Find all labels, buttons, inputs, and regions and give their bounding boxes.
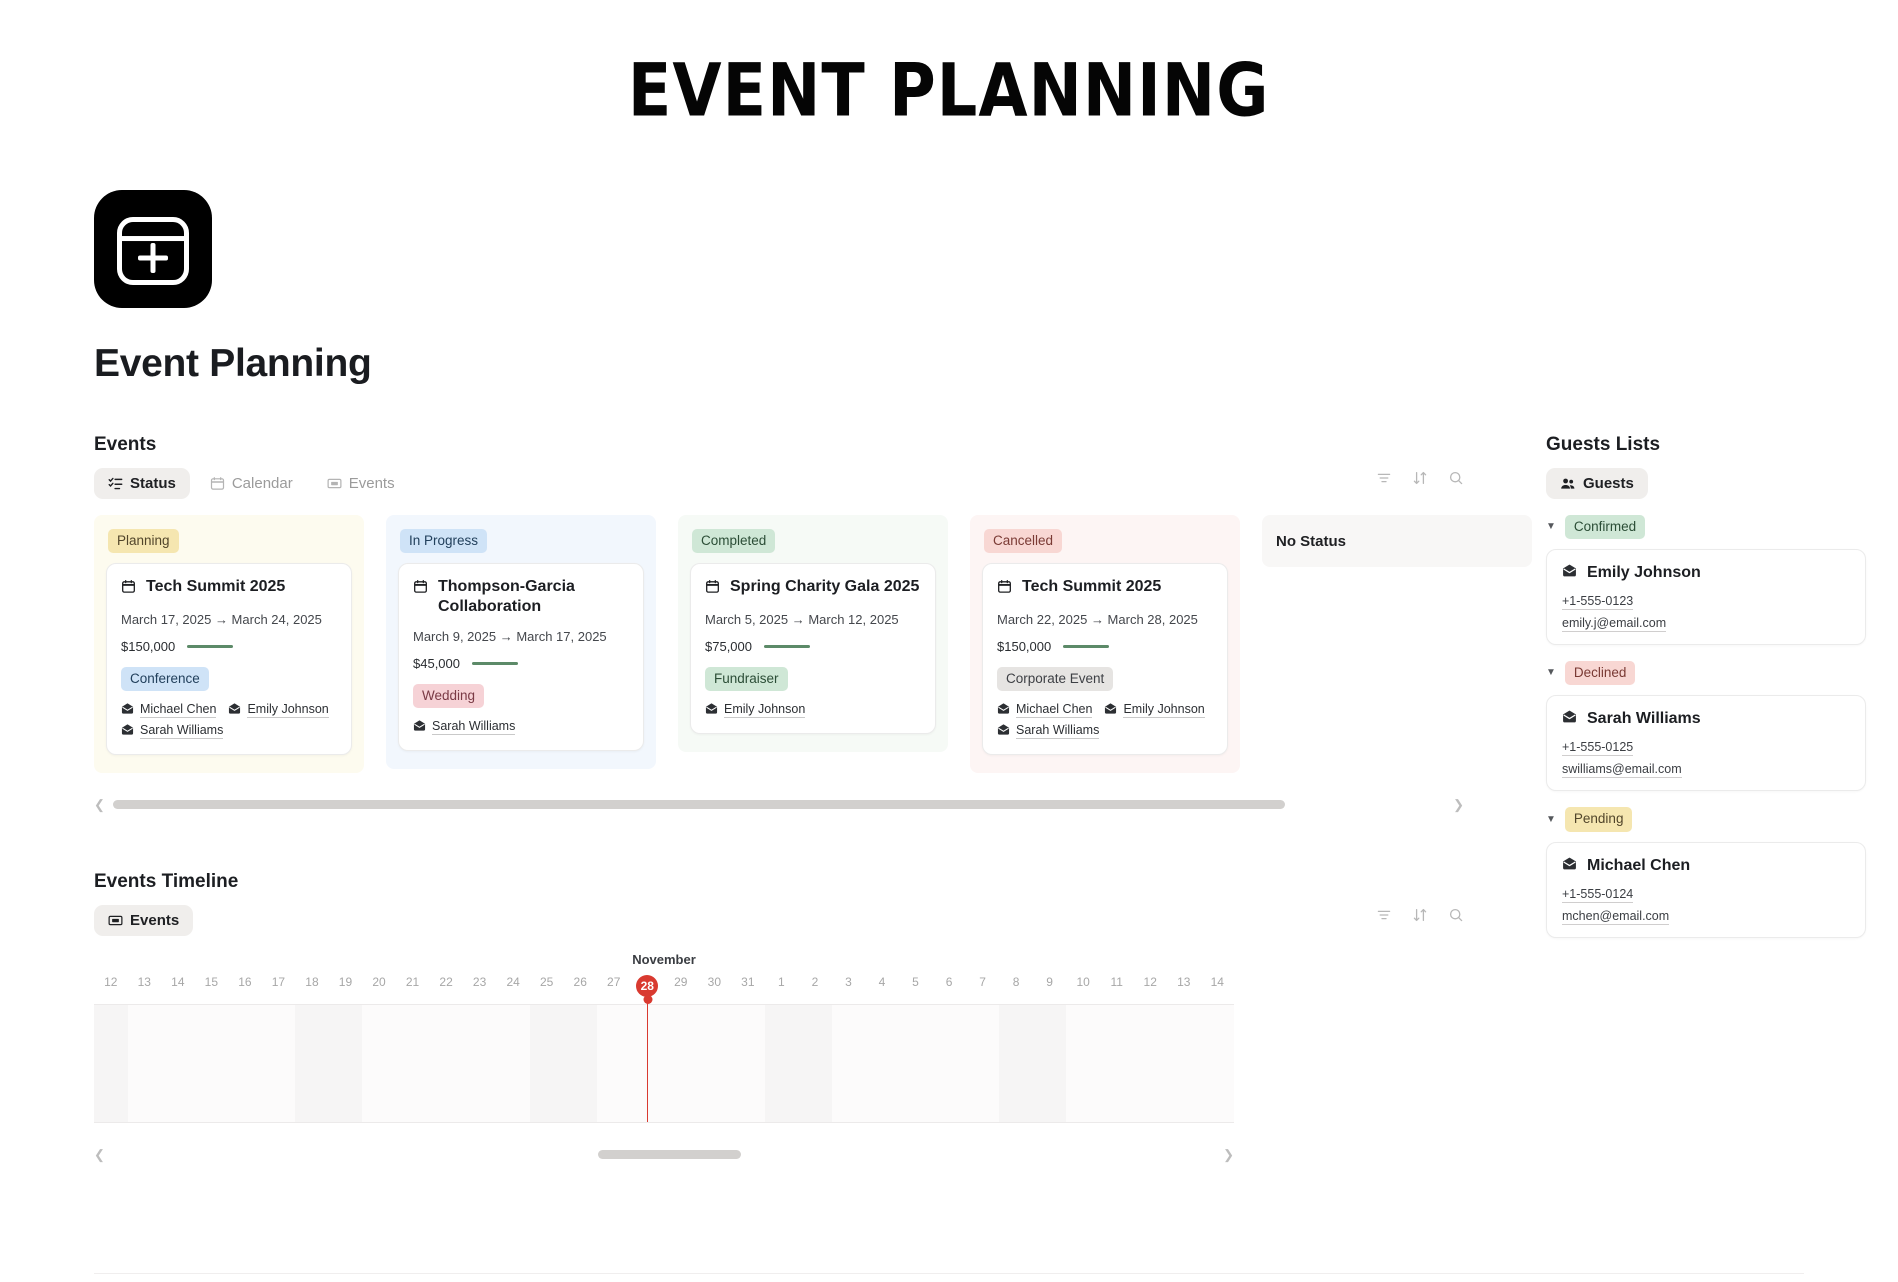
timeline-day[interactable]: 25: [530, 975, 564, 997]
event-tag-row: Wedding: [413, 684, 629, 708]
timeline-day[interactable]: 5: [899, 975, 933, 997]
event-date-range: March 17, 2025 → March 24, 2025: [121, 612, 337, 627]
sort-icon[interactable]: [1412, 907, 1428, 928]
timeline-day-cell[interactable]: [496, 1005, 530, 1122]
timeline-toolbar-actions: [1376, 907, 1464, 928]
envelope-icon: [997, 702, 1010, 718]
timeline-day-cell[interactable]: [463, 1005, 497, 1122]
timeline-day-cell[interactable]: [1201, 1005, 1235, 1122]
timeline-day[interactable]: 23: [463, 975, 497, 997]
timeline-tabbar: Events: [94, 905, 1464, 936]
envelope-icon: [121, 702, 134, 718]
event-tag: Wedding: [413, 684, 484, 708]
tab-guests-label: Guests: [1583, 475, 1634, 492]
timeline-day-cell[interactable]: [798, 1005, 832, 1122]
kanban-columns: Planning Tech Summit 2025: [94, 515, 1464, 773]
tab-events-label: Events: [349, 475, 395, 492]
guest-phone-row: +1-555-0124: [1562, 887, 1850, 901]
timeline-day[interactable]: 7: [966, 975, 1000, 997]
timeline-day[interactable]: 12: [1133, 975, 1167, 997]
timeline-day[interactable]: 1: [765, 975, 799, 997]
calendar-icon: [121, 579, 136, 600]
event-date-range: March 9, 2025 → March 17, 2025: [413, 629, 629, 644]
timeline-day-cell[interactable]: [966, 1005, 1000, 1122]
guest-phone[interactable]: +1-555-0123: [1562, 594, 1633, 610]
envelope-icon: [1562, 856, 1577, 876]
guest-name-row: Emily Johnson: [1562, 563, 1850, 583]
timeline-day[interactable]: 2: [798, 975, 832, 997]
status-badge: In Progress: [400, 529, 487, 553]
kanban-board: Planning Tech Summit 2025: [94, 515, 1464, 813]
event-tag: Conference: [121, 667, 209, 691]
timeline-day[interactable]: 13: [128, 975, 162, 997]
timeline-day[interactable]: 21: [396, 975, 430, 997]
event-title: Tech Summit 2025: [146, 577, 285, 597]
guests-tabbar: Guests: [1546, 468, 1866, 499]
person-name: Emily Johnson: [1123, 702, 1204, 718]
event-tag: Corporate Event: [997, 667, 1113, 691]
status-badge: No Status: [1276, 529, 1355, 555]
timeline-horizontal-scrollbar[interactable]: ❮ ❯: [94, 1145, 1234, 1163]
guest-name-row: Michael Chen: [1562, 856, 1850, 876]
guest-group-header[interactable]: ▼ Pending: [1546, 807, 1866, 831]
status-list-icon: [108, 476, 123, 491]
timeline-day-cell[interactable]: [899, 1005, 933, 1122]
timeline-day[interactable]: 30: [698, 975, 732, 997]
search-icon[interactable]: [1448, 907, 1464, 928]
timeline-day-cell[interactable]: [295, 1005, 329, 1122]
event-people: Sarah Williams: [413, 719, 629, 735]
calendar-icon: [705, 579, 720, 600]
event-budget: $150,000: [997, 639, 1051, 654]
left-column: Events Status: [94, 434, 1464, 1163]
card-title-row: Thompson-Garcia Collaboration: [413, 577, 629, 617]
person[interactable]: Emily Johnson: [228, 702, 328, 718]
column-header: Planning: [94, 515, 364, 563]
tab-status[interactable]: Status: [94, 468, 190, 499]
timeline-day-cell[interactable]: [228, 1005, 262, 1122]
timeline-day[interactable]: 8: [999, 975, 1033, 997]
guests-panel: Guests Lists Guests ▼ Confirmed: [1546, 434, 1866, 948]
guest-card[interactable]: Sarah Williams +1-555-0125 swilliams@ema…: [1546, 695, 1866, 791]
timeline-day-cell[interactable]: [94, 1005, 128, 1122]
chevron-down-icon[interactable]: ▼: [1546, 815, 1556, 825]
timeline-day[interactable]: 12: [94, 975, 128, 997]
timeline-day-cell[interactable]: [999, 1005, 1033, 1122]
guest-group-pending: ▼ Pending Michael Chen +1-555-0124 mchen…: [1546, 807, 1866, 937]
event-title: Thompson-Garcia Collaboration: [438, 577, 629, 617]
column-header: No Status: [1262, 515, 1532, 565]
person[interactable]: Sarah Williams: [997, 723, 1099, 739]
guest-name: Emily Johnson: [1587, 564, 1701, 582]
timeline-day-cell[interactable]: [765, 1005, 799, 1122]
timeline-day-cell[interactable]: [1100, 1005, 1134, 1122]
guest-group-header[interactable]: ▼ Confirmed: [1546, 515, 1866, 539]
timeline-day[interactable]: 11: [1100, 975, 1134, 997]
scroll-left-icon[interactable]: ❮: [94, 798, 105, 811]
kanban-column-in-progress: In Progress Thompson-Garcia C: [386, 515, 656, 769]
main-content: Events Status: [0, 386, 1898, 1163]
person-name: Emily Johnson: [247, 702, 328, 718]
scroll-right-icon[interactable]: ❯: [1453, 798, 1464, 811]
timeline-day-cell[interactable]: [262, 1005, 296, 1122]
person-name: Michael Chen: [140, 702, 216, 718]
people-icon: [1560, 476, 1576, 492]
tab-calendar[interactable]: Calendar: [196, 468, 307, 499]
timeline-day-cell[interactable]: [563, 1005, 597, 1122]
timeline-section: Events Timeline Events: [94, 871, 1464, 1163]
event-budget: $45,000: [413, 656, 460, 671]
timeline-day-cell[interactable]: [128, 1005, 162, 1122]
guest-phone[interactable]: +1-555-0125: [1562, 740, 1633, 756]
scroll-left-icon[interactable]: ❮: [94, 1148, 105, 1161]
guest-status-badge: Confirmed: [1565, 515, 1645, 539]
envelope-icon: [413, 719, 426, 735]
envelope-icon: [997, 723, 1010, 739]
kanban-column-planning: Planning Tech Summit 2025: [94, 515, 364, 773]
column-header: Cancelled: [970, 515, 1240, 563]
guest-email[interactable]: emily.j@email.com: [1562, 616, 1666, 632]
event-people: Michael Chen Emily Joh: [121, 702, 337, 739]
sort-icon[interactable]: [1412, 470, 1428, 491]
timeline-day[interactable]: 24: [496, 975, 530, 997]
timeline-day[interactable]: 31: [731, 975, 765, 997]
event-budget-row: $150,000: [997, 639, 1213, 654]
person[interactable]: Sarah Williams: [121, 723, 223, 739]
timeline-day-cell[interactable]: [832, 1005, 866, 1122]
calendar-icon: [210, 476, 225, 491]
calendar-icon: [997, 579, 1012, 600]
guest-group-declined: ▼ Declined Sarah Williams +1-555-0125 sw…: [1546, 661, 1866, 791]
event-tag-row: Fundraiser: [705, 667, 921, 691]
person[interactable]: Michael Chen: [121, 702, 216, 718]
events-section: Events Status: [94, 434, 1464, 813]
guest-card[interactable]: Emily Johnson +1-555-0123 emily.j@email.…: [1546, 549, 1866, 645]
budget-bar: [1063, 645, 1109, 648]
tab-guests[interactable]: Guests: [1546, 468, 1648, 499]
person-name: Michael Chen: [1016, 702, 1092, 718]
tab-calendar-label: Calendar: [232, 475, 293, 492]
timeline-day[interactable]: 17: [262, 975, 296, 997]
timeline-day-cell[interactable]: [932, 1005, 966, 1122]
scroll-thumb[interactable]: [113, 800, 1285, 809]
scroll-thumb[interactable]: [598, 1150, 741, 1159]
person[interactable]: Emily Johnson: [1104, 702, 1204, 718]
timeline-day[interactable]: 3: [832, 975, 866, 997]
timeline-day-cell[interactable]: [1133, 1005, 1167, 1122]
timeline-day[interactable]: 19: [329, 975, 363, 997]
person-name: Emily Johnson: [724, 702, 805, 718]
ticket-icon: [327, 476, 342, 491]
guests-section-title: Guests Lists: [1546, 434, 1866, 456]
page-header: Event Planning: [0, 190, 1898, 386]
event-budget: $150,000: [121, 639, 175, 654]
ticket-icon: [108, 913, 123, 928]
timeline-day-cell[interactable]: [1167, 1005, 1201, 1122]
guest-email[interactable]: swilliams@email.com: [1562, 762, 1682, 778]
event-title: Spring Charity Gala 2025: [730, 577, 919, 597]
column-header: Completed: [678, 515, 948, 563]
timeline-day-cell[interactable]: [664, 1005, 698, 1122]
budget-bar: [472, 662, 518, 665]
event-budget: $75,000: [705, 639, 752, 654]
banner-title: EVENT PLANNING: [628, 48, 1270, 133]
status-badge: Completed: [692, 529, 775, 553]
timeline-chart: November 1213141516171819202122232425262…: [94, 952, 1234, 1163]
person-name: Sarah Williams: [432, 719, 515, 735]
scroll-right-icon[interactable]: ❯: [1223, 1148, 1234, 1161]
guest-phone-row: +1-555-0123: [1562, 594, 1850, 608]
guest-status-badge: Pending: [1565, 807, 1633, 831]
timeline-day[interactable]: 20: [362, 975, 396, 997]
guest-email-row: swilliams@email.com: [1562, 762, 1850, 776]
person-name: Sarah Williams: [1016, 723, 1099, 739]
scroll-track[interactable]: [113, 800, 1445, 809]
timeline-day[interactable]: 26: [563, 975, 597, 997]
timeline-day-cell[interactable]: [362, 1005, 396, 1122]
kanban-horizontal-scrollbar[interactable]: ❮ ❯: [94, 795, 1464, 813]
timeline-day[interactable]: 10: [1066, 975, 1100, 997]
timeline-ruler: 1213141516171819202122232425262728293031…: [94, 975, 1234, 1005]
person[interactable]: Emily Johnson: [705, 702, 805, 718]
timeline-day[interactable]: 29: [664, 975, 698, 997]
guest-group-header[interactable]: ▼ Declined: [1546, 661, 1866, 685]
timeline-day-cell[interactable]: [731, 1005, 765, 1122]
event-date-range: March 22, 2025 → March 28, 2025: [997, 612, 1213, 627]
filter-icon[interactable]: [1376, 470, 1392, 491]
timeline-day[interactable]: 9: [1033, 975, 1067, 997]
timeline-day-cell[interactable]: [195, 1005, 229, 1122]
event-budget-row: $150,000: [121, 639, 337, 654]
events-tabbar: Status Calendar: [94, 468, 1464, 499]
timeline-day[interactable]: 27: [597, 975, 631, 997]
scroll-track[interactable]: [113, 1150, 1215, 1159]
timeline-day[interactable]: 18: [295, 975, 329, 997]
event-card[interactable]: Tech Summit 2025 March 22, 2025 → March …: [982, 563, 1228, 755]
guest-email-row: emily.j@email.com: [1562, 616, 1850, 630]
event-people: Michael Chen Emily Joh: [997, 702, 1213, 739]
event-tag-row: Corporate Event: [997, 667, 1213, 691]
guest-name-row: Sarah Williams: [1562, 709, 1850, 729]
page-bottom-divider: [94, 1273, 1804, 1274]
events-section-title: Events: [94, 434, 1464, 456]
kanban-column-completed: Completed Spring Charity Gala: [678, 515, 948, 752]
person[interactable]: Sarah Williams: [413, 719, 515, 735]
guest-email-row: mchen@email.com: [1562, 909, 1850, 923]
event-card[interactable]: Spring Charity Gala 2025 March 5, 2025 →…: [690, 563, 936, 734]
guest-phone[interactable]: +1-555-0124: [1562, 887, 1633, 903]
status-badge: Planning: [108, 529, 179, 553]
chevron-down-icon[interactable]: ▼: [1546, 668, 1556, 678]
event-tag: Fundraiser: [705, 667, 788, 691]
timeline-day-cell[interactable]: [865, 1005, 899, 1122]
guest-group-confirmed: ▼ Confirmed Emily Johnson +1-555-0123 em…: [1546, 515, 1866, 645]
guest-name: Michael Chen: [1587, 857, 1690, 875]
event-budget-row: $75,000: [705, 639, 921, 654]
person[interactable]: Michael Chen: [997, 702, 1092, 718]
timeline-day[interactable]: 16: [228, 975, 262, 997]
calendar-plus-icon: [94, 190, 212, 308]
status-badge: Cancelled: [984, 529, 1062, 553]
guest-name: Sarah Williams: [1587, 710, 1701, 728]
page-banner: EVENT PLANNING: [0, 0, 1898, 182]
envelope-icon: [228, 702, 241, 718]
person-name: Sarah Williams: [140, 723, 223, 739]
timeline-day-cell[interactable]: [329, 1005, 363, 1122]
chevron-down-icon[interactable]: ▼: [1546, 522, 1556, 532]
event-date-range: March 5, 2025 → March 12, 2025: [705, 612, 921, 627]
column-header: In Progress: [386, 515, 656, 563]
today-marker: [647, 1000, 648, 1122]
today-pill: 28: [636, 975, 658, 997]
event-card[interactable]: Thompson-Garcia Collaboration March 9, 2…: [398, 563, 644, 751]
envelope-icon: [1562, 709, 1577, 729]
timeline-section-title: Events Timeline: [94, 871, 1464, 893]
event-title: Tech Summit 2025: [1022, 577, 1161, 597]
timeline-day[interactable]: 15: [195, 975, 229, 997]
timeline-body: [94, 1005, 1234, 1123]
tab-status-label: Status: [130, 475, 176, 492]
event-people: Emily Johnson: [705, 702, 921, 718]
guest-email[interactable]: mchen@email.com: [1562, 909, 1669, 925]
timeline-day-cell[interactable]: [530, 1005, 564, 1122]
timeline-day-cell[interactable]: [1066, 1005, 1100, 1122]
kanban-column-cancelled: Cancelled Tech Summit 2025: [970, 515, 1240, 773]
filter-icon[interactable]: [1376, 907, 1392, 928]
kanban-column-no-status: No Status: [1262, 515, 1532, 567]
timeline-day[interactable]: 22: [429, 975, 463, 997]
tab-timeline-events-label: Events: [130, 912, 179, 929]
event-card[interactable]: Tech Summit 2025 March 17, 2025 → March …: [106, 563, 352, 755]
card-title-row: Tech Summit 2025: [997, 577, 1213, 600]
timeline-day-cell[interactable]: [396, 1005, 430, 1122]
envelope-icon: [121, 723, 134, 739]
search-icon[interactable]: [1448, 470, 1464, 491]
card-title-row: Tech Summit 2025: [121, 577, 337, 600]
timeline-day[interactable]: 13: [1167, 975, 1201, 997]
timeline-day-cell[interactable]: [698, 1005, 732, 1122]
envelope-icon: [1104, 702, 1117, 718]
timeline-day[interactable]: 14: [1201, 975, 1235, 997]
event-budget-row: $45,000: [413, 656, 629, 671]
timeline-day-cell[interactable]: [597, 1005, 631, 1122]
event-tag-row: Conference: [121, 667, 337, 691]
timeline-day-cell[interactable]: [161, 1005, 195, 1122]
timeline-day-cell[interactable]: [429, 1005, 463, 1122]
tab-events[interactable]: Events: [313, 468, 409, 499]
envelope-icon: [1562, 563, 1577, 583]
calendar-icon: [413, 579, 428, 600]
envelope-icon: [705, 702, 718, 718]
timeline-day[interactable]: 14: [161, 975, 195, 997]
timeline-day-cell[interactable]: [1033, 1005, 1067, 1122]
timeline-day-today[interactable]: 28: [631, 975, 665, 997]
guest-card[interactable]: Michael Chen +1-555-0124 mchen@email.com: [1546, 842, 1866, 938]
budget-bar: [187, 645, 233, 648]
tab-timeline-events[interactable]: Events: [94, 905, 193, 936]
timeline-day[interactable]: 4: [865, 975, 899, 997]
timeline-month-label: November: [94, 952, 1234, 967]
card-title-row: Spring Charity Gala 2025: [705, 577, 921, 600]
guest-phone-row: +1-555-0125: [1562, 740, 1850, 754]
timeline-day[interactable]: 6: [932, 975, 966, 997]
guest-status-badge: Declined: [1565, 661, 1636, 685]
budget-bar: [764, 645, 810, 648]
events-toolbar-actions: [1376, 470, 1464, 491]
page-title: Event Planning: [94, 342, 1898, 386]
